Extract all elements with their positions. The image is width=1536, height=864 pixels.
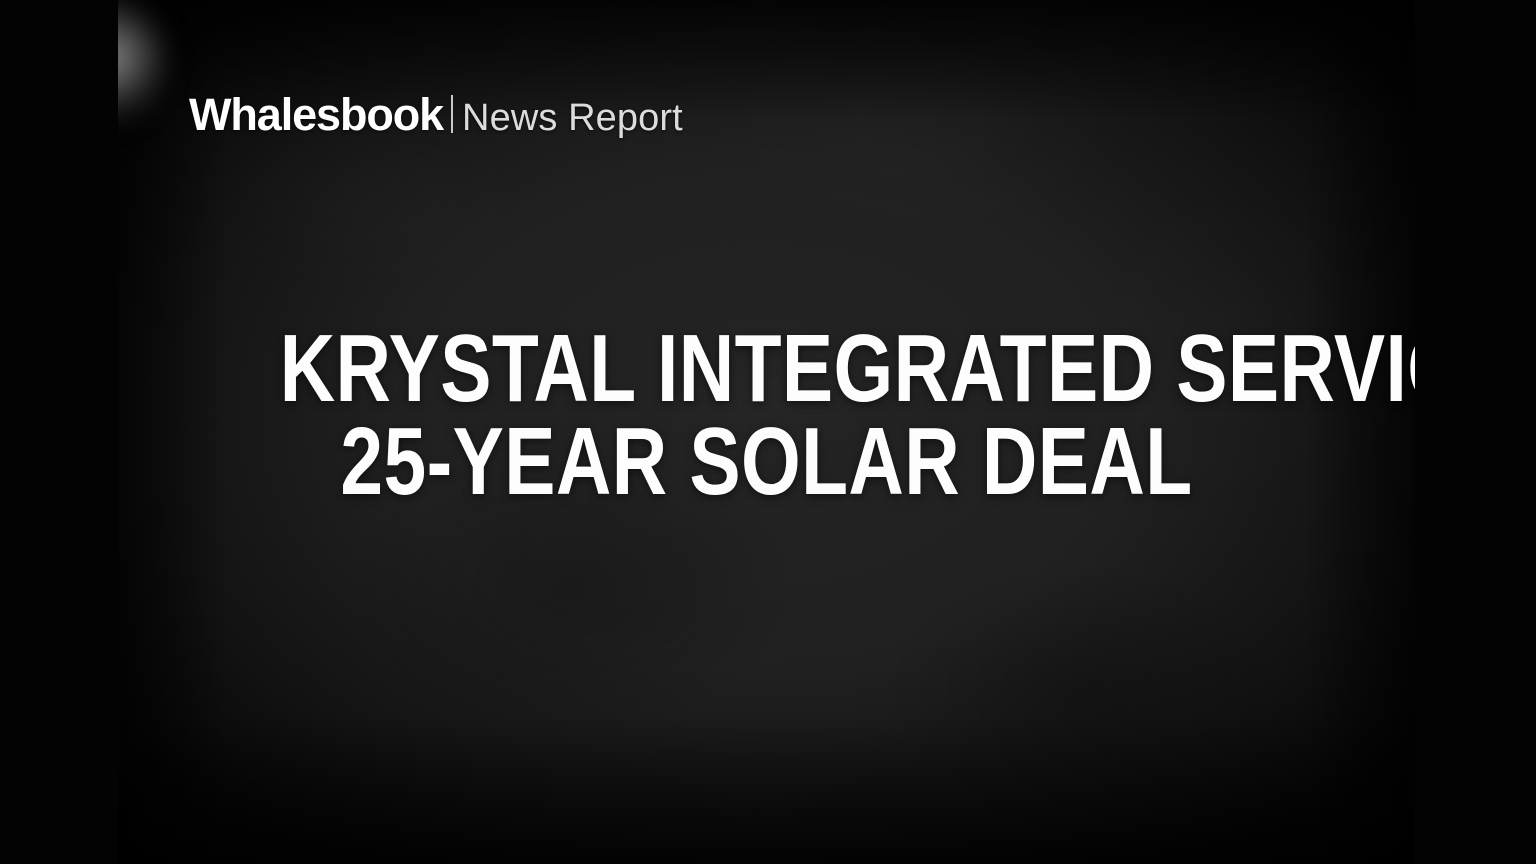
headline-line-1: KRYSTAL INTEGRATED SERVICES BAGS [280,322,1254,415]
headline: KRYSTAL INTEGRATED SERVICES BAGS 25-YEAR… [118,322,1415,508]
brand-tagline: News Report [462,99,683,137]
brand-name: Whalesbook [189,92,443,137]
headline-line-2: 25-YEAR SOLAR DEAL [280,415,1254,508]
letterbox-right [1415,0,1536,864]
letterbox-left [0,0,118,864]
news-card-canvas: Whalesbook News Report KRYSTAL INTEGRATE… [0,0,1536,864]
brand-divider [451,95,453,133]
brand-lockup: Whalesbook News Report [189,92,683,137]
background-stage: Whalesbook News Report KRYSTAL INTEGRATE… [118,0,1415,864]
